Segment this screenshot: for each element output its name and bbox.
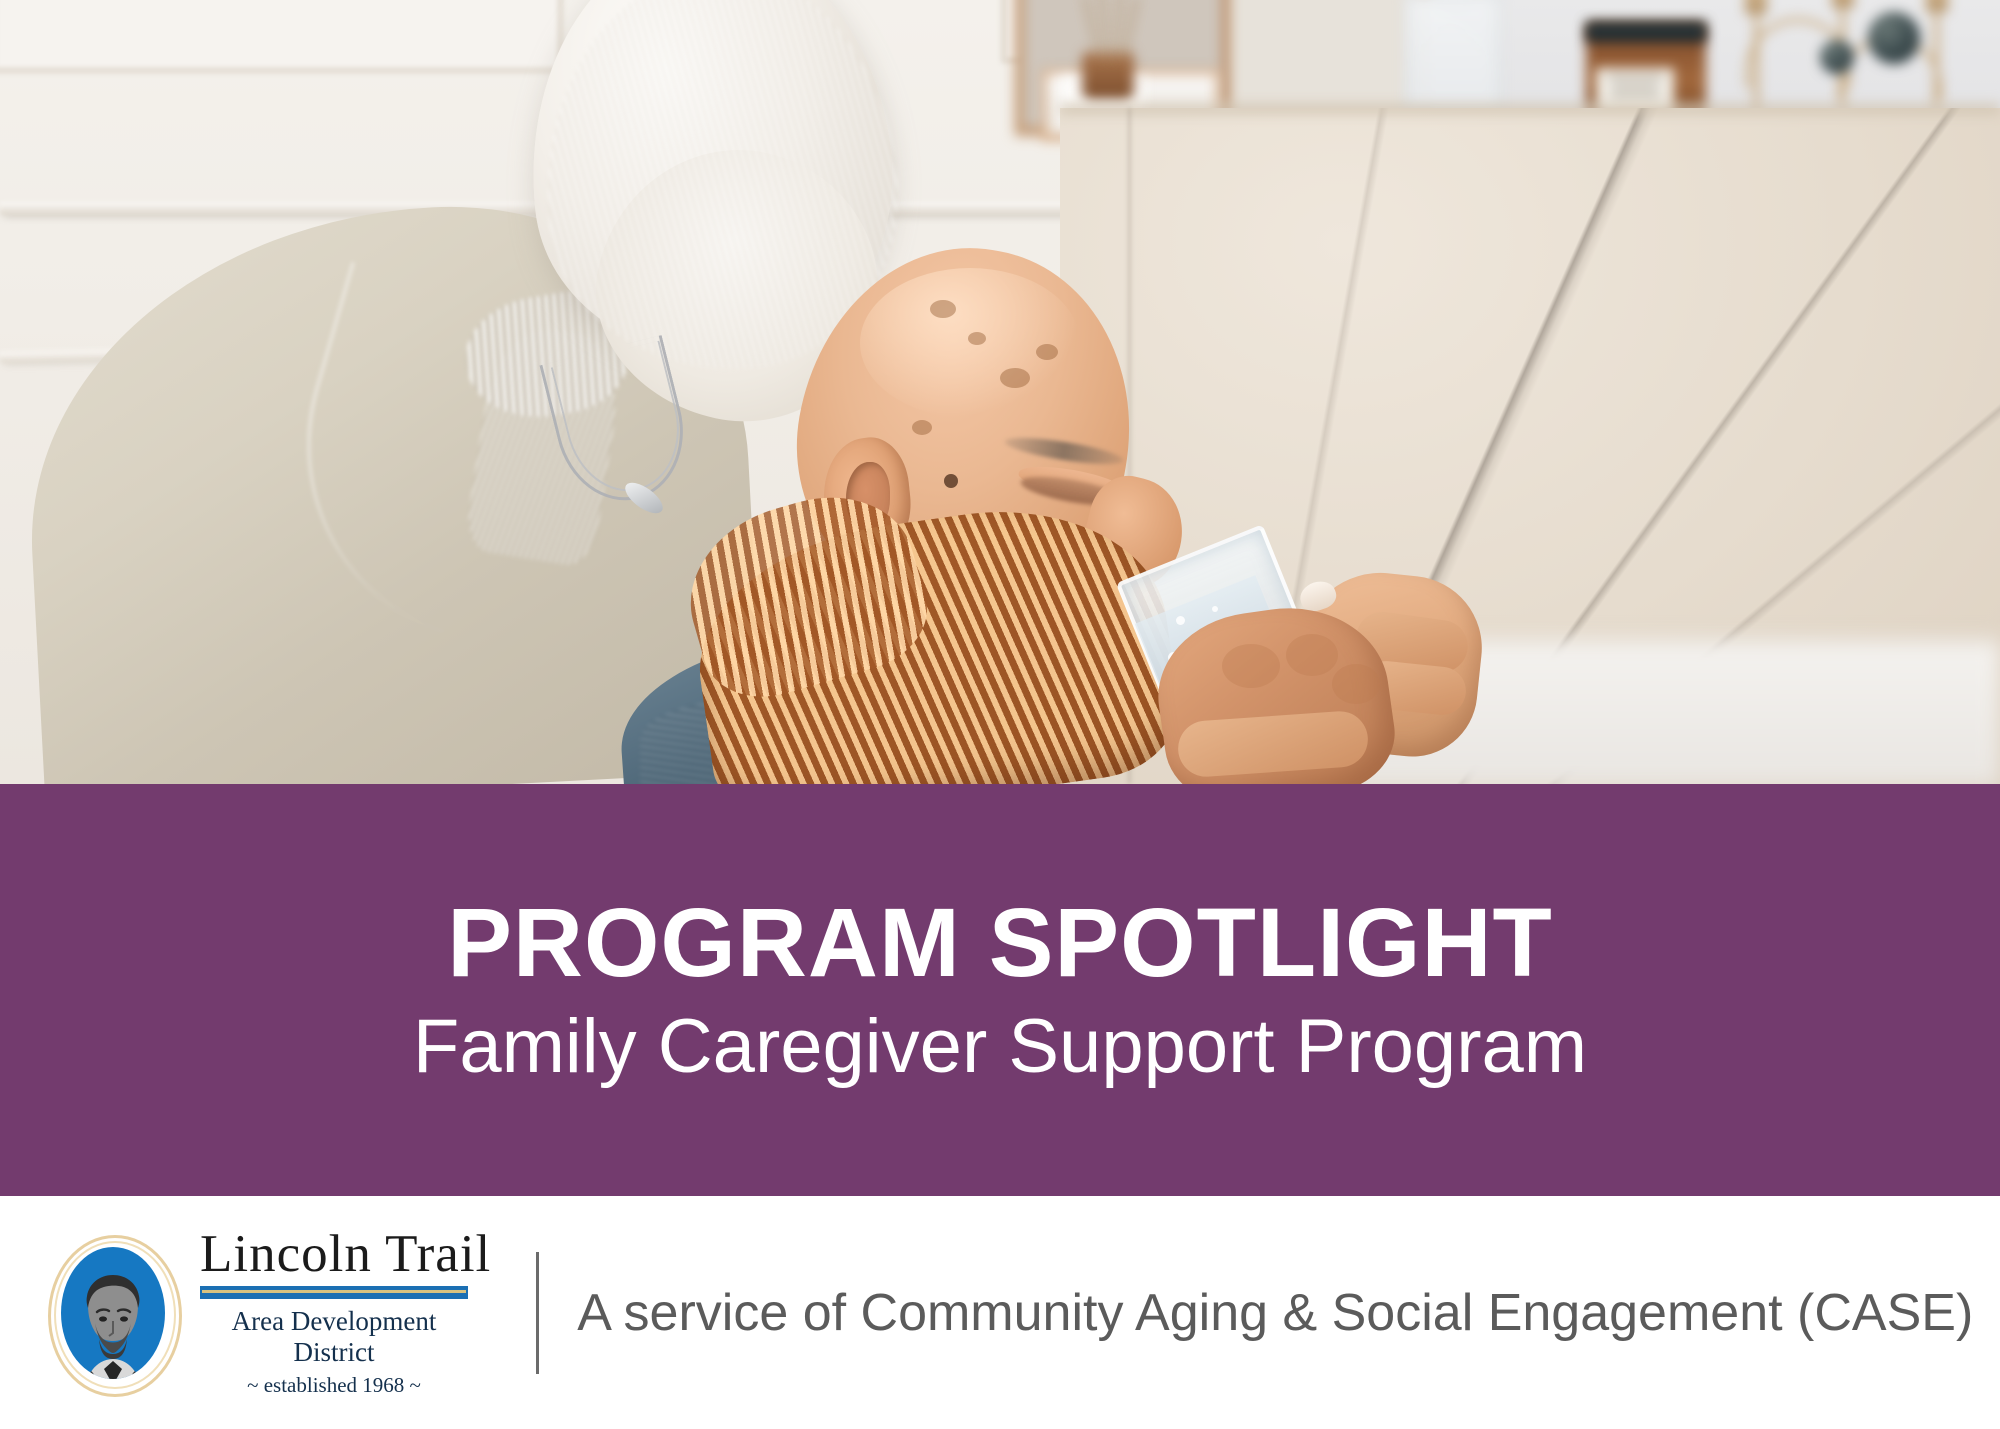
logo-established: ~ established 1968 ~ <box>200 1373 468 1398</box>
wall-panel-upper-left <box>0 0 564 74</box>
footer-divider <box>536 1252 539 1374</box>
hero-photo <box>0 0 2000 784</box>
water-droplet <box>1212 606 1218 612</box>
age-spot <box>930 300 956 318</box>
mole <box>944 474 958 488</box>
footer-bar: Lincoln Trail Area Development District … <box>0 1196 2000 1429</box>
water-droplet <box>1176 616 1185 625</box>
crystal-vase-texture <box>1405 0 1501 116</box>
age-spot <box>912 420 932 435</box>
candle-jar-lid <box>1586 22 1706 42</box>
logo-subtitle: Area Development District <box>200 1306 468 1368</box>
age-spot <box>968 332 986 345</box>
logo-underline-bar <box>200 1286 468 1299</box>
logo-blue-circle <box>61 1247 165 1379</box>
title-band: PROGRAM SPOTLIGHT Family Caregiver Suppo… <box>0 784 2000 1196</box>
knuckle <box>1286 634 1338 676</box>
page-subtitle: Family Caregiver Support Program <box>413 1007 1587 1087</box>
logo-name: Lincoln Trail <box>200 1228 491 1281</box>
footer-tagline: A service of Community Aging & Social En… <box>577 1283 1973 1343</box>
age-spot <box>1000 368 1030 388</box>
page-title: PROGRAM SPOTLIGHT <box>447 894 1553 993</box>
lincoln-trail-logo[interactable] <box>48 1233 178 1393</box>
brass-candelabra <box>1720 0 2000 118</box>
logo-wordmark: Lincoln Trail Area Development District … <box>200 1228 491 1398</box>
knuckle <box>1332 664 1380 704</box>
age-spot <box>1036 344 1058 360</box>
program-spotlight-slide: PROGRAM SPOTLIGHT Family Caregiver Suppo… <box>0 0 2000 1429</box>
abraham-lincoln-portrait-icon <box>63 1263 163 1378</box>
marble-counter-edge <box>1060 104 2000 113</box>
knuckle <box>1222 644 1280 688</box>
